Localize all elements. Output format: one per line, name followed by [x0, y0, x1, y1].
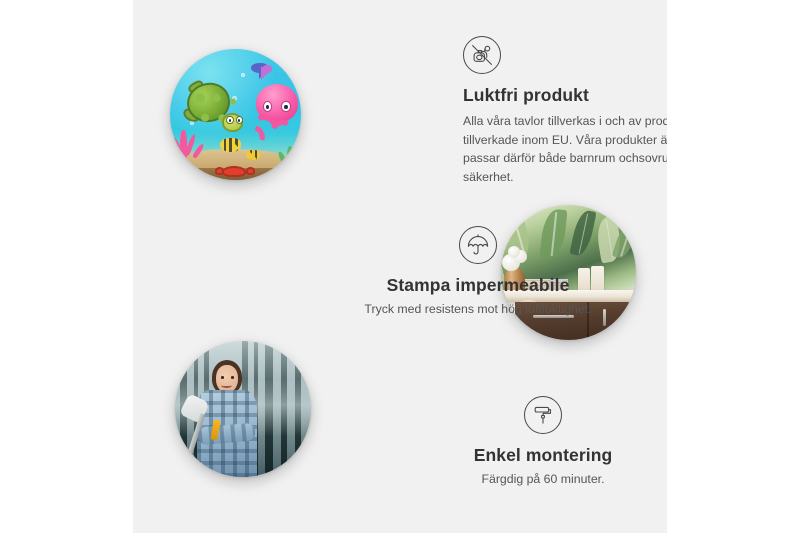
no-perfume-icon: [463, 36, 501, 74]
content-panel: Luktfri produkt Alla våra tavlor tillver…: [133, 0, 667, 533]
woman-face: [216, 365, 238, 392]
paint-roller-icon: [524, 396, 562, 434]
crab-claw: [246, 167, 255, 175]
product-feature-page: Luktfri produkt Alla våra tavlor tillver…: [0, 0, 800, 533]
woman-smile: [221, 383, 232, 388]
woman-eye: [221, 376, 224, 378]
woman-eye: [231, 376, 234, 378]
feature-odour-free: Luktfri produkt Alla våra tavlor tillver…: [463, 36, 667, 187]
image-woman-with-paint-roller: [175, 341, 311, 477]
octopus-eye: [281, 101, 290, 111]
bubble-icon: [232, 96, 237, 101]
feature-description: Alla våra tavlor tillverkas i och av pro…: [463, 112, 667, 187]
fish-icon: [246, 150, 260, 160]
feature-waterproof-print: Stampa impermeabile Tryck med resistens …: [338, 226, 618, 319]
turtle-eye: [236, 116, 243, 125]
crab-claw: [215, 167, 224, 175]
bubble-icon: [241, 73, 245, 77]
feature-description: Tryck med resistens mot hög luftfuktighe…: [338, 300, 618, 319]
turtle-eye: [226, 116, 233, 125]
umbrella-icon: [459, 226, 497, 264]
octopus-eye: [263, 101, 272, 111]
fish-icon: [220, 138, 241, 152]
feature-easy-mounting: Enkel montering Färgdig på 60 minuter.: [433, 396, 653, 489]
fish-icon: [262, 65, 272, 73]
image-underwater-kids-mural: [170, 49, 301, 180]
door-handle: [629, 309, 632, 326]
feature-title: Stampa impermeabile: [338, 275, 618, 296]
feature-title: Luktfri produkt: [463, 85, 667, 106]
feature-title: Enkel montering: [433, 445, 653, 466]
coral: [287, 146, 294, 164]
crab-icon: [222, 166, 246, 178]
feature-description: Färgdig på 60 minuter.: [433, 470, 653, 489]
